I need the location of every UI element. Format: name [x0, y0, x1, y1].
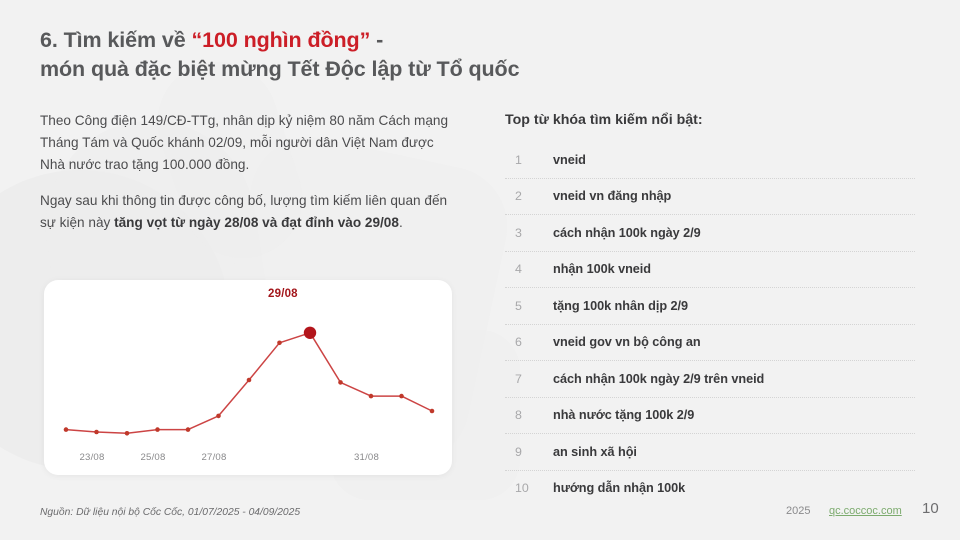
chart-data-point [338, 380, 343, 385]
page-title-suffix: - [370, 28, 383, 52]
keyword-row[interactable]: 6vneid gov vn bộ công an [505, 325, 915, 362]
page-title: 6. Tìm kiếm về “100 nghìn đồng” - món qu… [40, 26, 560, 83]
keyword-rank: 10 [505, 481, 553, 495]
footer-year: 2025 [786, 505, 810, 517]
chart-data-point [94, 430, 99, 435]
keyword-row[interactable]: 1vneid [505, 142, 915, 179]
keyword-term: vneid vn đăng nhập [553, 189, 671, 203]
search-trend-line-chart [44, 280, 452, 475]
keyword-row[interactable]: 3cách nhận 100k ngày 2/9 [505, 215, 915, 252]
chart-data-point [277, 341, 282, 346]
chart-data-point [125, 431, 130, 436]
keyword-row[interactable]: 2vneid vn đăng nhập [505, 179, 915, 216]
keyword-rank: 8 [505, 408, 553, 422]
keywords-list: 1vneid2vneid vn đăng nhập3cách nhận 100k… [505, 142, 915, 506]
chart-x-tick-label: 27/08 [202, 452, 227, 463]
keyword-term: vneid [553, 153, 586, 167]
keyword-row[interactable]: 8nhà nước tặng 100k 2/9 [505, 398, 915, 435]
chart-peak-label: 29/08 [268, 288, 298, 300]
keyword-rank: 3 [505, 226, 553, 240]
keyword-term: hướng dẫn nhận 100k [553, 481, 685, 495]
page-title-highlight: “100 nghìn đồng” [191, 28, 370, 52]
keyword-row[interactable]: 10hướng dẫn nhận 100k [505, 471, 915, 507]
keyword-term: cách nhận 100k ngày 2/9 trên vneid [553, 372, 764, 386]
chart-x-tick-label: 25/08 [141, 452, 166, 463]
keyword-rank: 9 [505, 445, 553, 459]
keyword-rank: 4 [505, 262, 553, 276]
chart-data-point [247, 378, 252, 383]
keyword-row[interactable]: 5tặng 100k nhân dịp 2/9 [505, 288, 915, 325]
chart-data-point [64, 427, 69, 432]
body-paragraph-2: Ngay sau khi thông tin được công bố, lượ… [40, 190, 460, 234]
keyword-rank: 5 [505, 299, 553, 313]
keyword-term: vneid gov vn bộ công an [553, 335, 701, 349]
keyword-row[interactable]: 7cách nhận 100k ngày 2/9 trên vneid [505, 361, 915, 398]
keyword-rank: 7 [505, 372, 553, 386]
keyword-row[interactable]: 9an sinh xã hội [505, 434, 915, 471]
chart-x-tick-label: 31/08 [354, 452, 379, 463]
page-number: 10 [922, 500, 939, 517]
slide-root: 6. Tìm kiếm về “100 nghìn đồng” - món qu… [0, 0, 960, 540]
keyword-term: an sinh xã hội [553, 445, 637, 459]
keyword-term: nhận 100k vneid [553, 262, 651, 276]
chart-data-point [430, 409, 435, 414]
chart-peak-point [304, 327, 316, 339]
page-title-line2: món quà đặc biệt mừng Tết Độc lập từ Tổ … [40, 57, 519, 81]
chart-data-point [399, 394, 404, 399]
chart-data-point [369, 394, 374, 399]
keyword-rank: 1 [505, 153, 553, 167]
keyword-rank: 2 [505, 189, 553, 203]
body-paragraph-2-tail: . [399, 215, 403, 230]
keyword-rank: 6 [505, 335, 553, 349]
keyword-term: tặng 100k nhân dịp 2/9 [553, 299, 688, 313]
chart-data-point [216, 414, 221, 419]
chart-data-point [186, 427, 191, 432]
body-paragraph-1: Theo Công điện 149/CĐ-TTg, nhân dịp kỷ n… [40, 110, 460, 176]
page-title-prefix: 6. Tìm kiếm về [40, 28, 191, 52]
chart-x-tick-label: 23/08 [80, 452, 105, 463]
keyword-term: nhà nước tặng 100k 2/9 [553, 408, 694, 422]
keyword-row[interactable]: 4nhận 100k vneid [505, 252, 915, 289]
keyword-term: cách nhận 100k ngày 2/9 [553, 226, 701, 240]
keywords-heading: Top từ khóa tìm kiếm nổi bật: [505, 112, 703, 128]
body-paragraph-2-emphasis: tăng vọt từ ngày 28/08 và đạt đỉnh vào 2… [114, 215, 399, 230]
search-trend-chart-card [44, 280, 452, 475]
body-copy: Theo Công điện 149/CĐ-TTg, nhân dịp kỷ n… [40, 110, 460, 248]
footer-website-link[interactable]: qc.coccoc.com [829, 505, 902, 517]
chart-data-point [155, 427, 160, 432]
source-note: Nguồn: Dữ liệu nội bộ Cốc Cốc, 01/07/202… [40, 507, 300, 518]
